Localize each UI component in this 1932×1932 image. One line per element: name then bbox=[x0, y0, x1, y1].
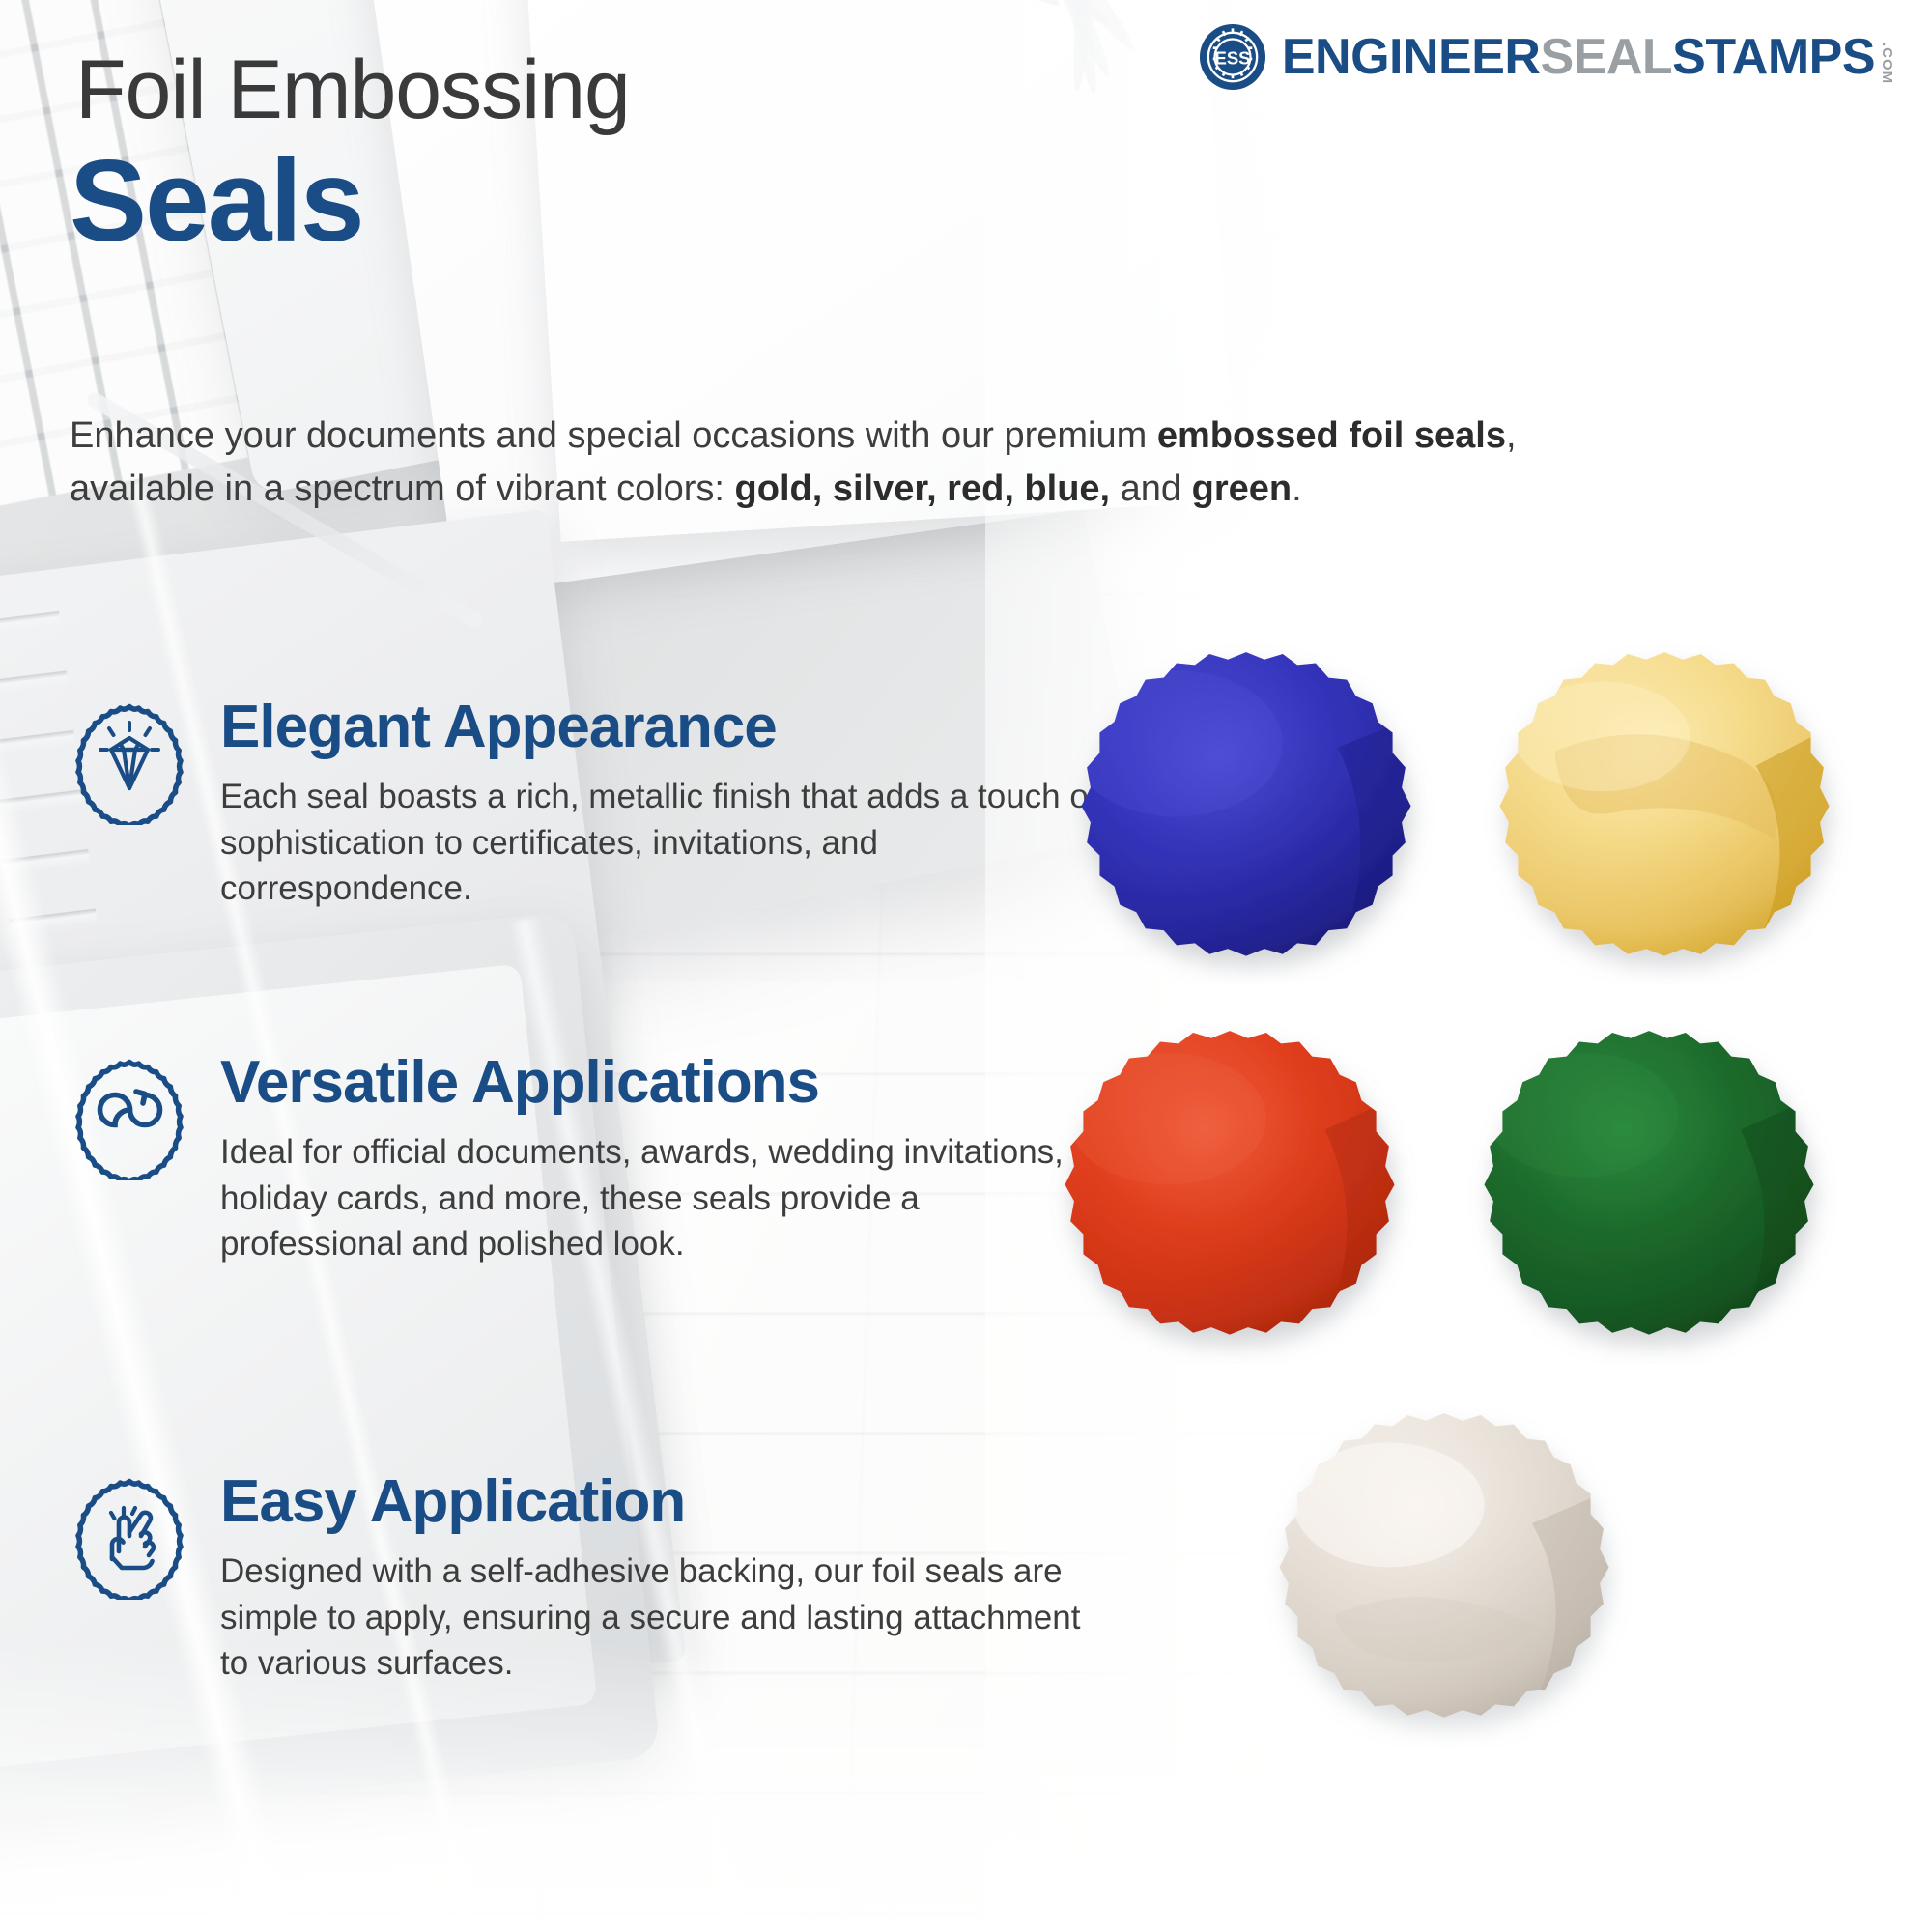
intro-text-part1: Enhance your documents and special occas… bbox=[70, 415, 1157, 456]
pointing-hand-icon bbox=[68, 1476, 191, 1600]
foil-seal-green bbox=[1461, 1016, 1837, 1364]
feature-body: Easy Application Designed with a self-ad… bbox=[220, 1470, 1109, 1687]
ess-gear-seal-icon: ESS bbox=[1197, 21, 1268, 93]
intro-text-part4: . bbox=[1292, 469, 1302, 509]
feature-title: Elegant Appearance bbox=[220, 696, 1109, 758]
page-title-primary: Foil Embossing bbox=[75, 46, 630, 134]
feature-block-versatile-applications: Versatile Applications Ideal for officia… bbox=[60, 1051, 1109, 1267]
feature-title: Easy Application bbox=[220, 1470, 1109, 1533]
brand-logo-wordmark: ENGINEER SEAL STAMPS .COM bbox=[1282, 28, 1895, 86]
content-layer: Foil Embossing Seals bbox=[0, 0, 1932, 1932]
feature-body: Elegant Appearance Each seal boasts a ri… bbox=[220, 696, 1109, 912]
feature-block-elegant-appearance: Elegant Appearance Each seal boasts a ri… bbox=[60, 696, 1109, 912]
diamond-gem-icon bbox=[68, 701, 191, 825]
intro-bold-colors: gold, silver, red, blue, bbox=[735, 469, 1111, 509]
intro-paragraph: Enhance your documents and special occas… bbox=[70, 410, 1548, 516]
feature-title: Versatile Applications bbox=[220, 1051, 1109, 1114]
page-title-secondary: Seals bbox=[70, 143, 363, 259]
logo-word-com: .COM bbox=[1879, 43, 1895, 86]
foil-seal-red bbox=[1041, 1016, 1418, 1364]
logo-word-stamps: STAMPS bbox=[1672, 28, 1875, 86]
logo-word-engineer: ENGINEER bbox=[1282, 28, 1541, 86]
intro-text-part3: and bbox=[1110, 469, 1192, 509]
feature-description: Each seal boasts a rich, metallic finish… bbox=[220, 774, 1109, 912]
feature-description: Ideal for official documents, awards, we… bbox=[220, 1129, 1109, 1267]
brand-logo[interactable]: ESS ENGINEER SEAL STAMPS .COM bbox=[1197, 21, 1895, 93]
foil-seal-blue bbox=[1058, 638, 1435, 985]
foil-seal-gold bbox=[1476, 638, 1853, 985]
foil-seal-silver bbox=[1256, 1399, 1633, 1747]
logo-word-seal: SEAL bbox=[1540, 28, 1672, 86]
feature-block-easy-application: Easy Application Designed with a self-ad… bbox=[60, 1470, 1109, 1687]
svg-text:ESS: ESS bbox=[1214, 47, 1250, 68]
intro-bold-product: embossed foil seals bbox=[1157, 415, 1506, 456]
feature-body: Versatile Applications Ideal for officia… bbox=[220, 1051, 1109, 1267]
infographic-page: Foil Embossing Seals bbox=[0, 0, 1932, 1932]
intro-bold-green: green bbox=[1192, 469, 1292, 509]
infinity-loop-icon bbox=[68, 1057, 191, 1180]
feature-description: Designed with a self-adhesive backing, o… bbox=[220, 1548, 1109, 1687]
